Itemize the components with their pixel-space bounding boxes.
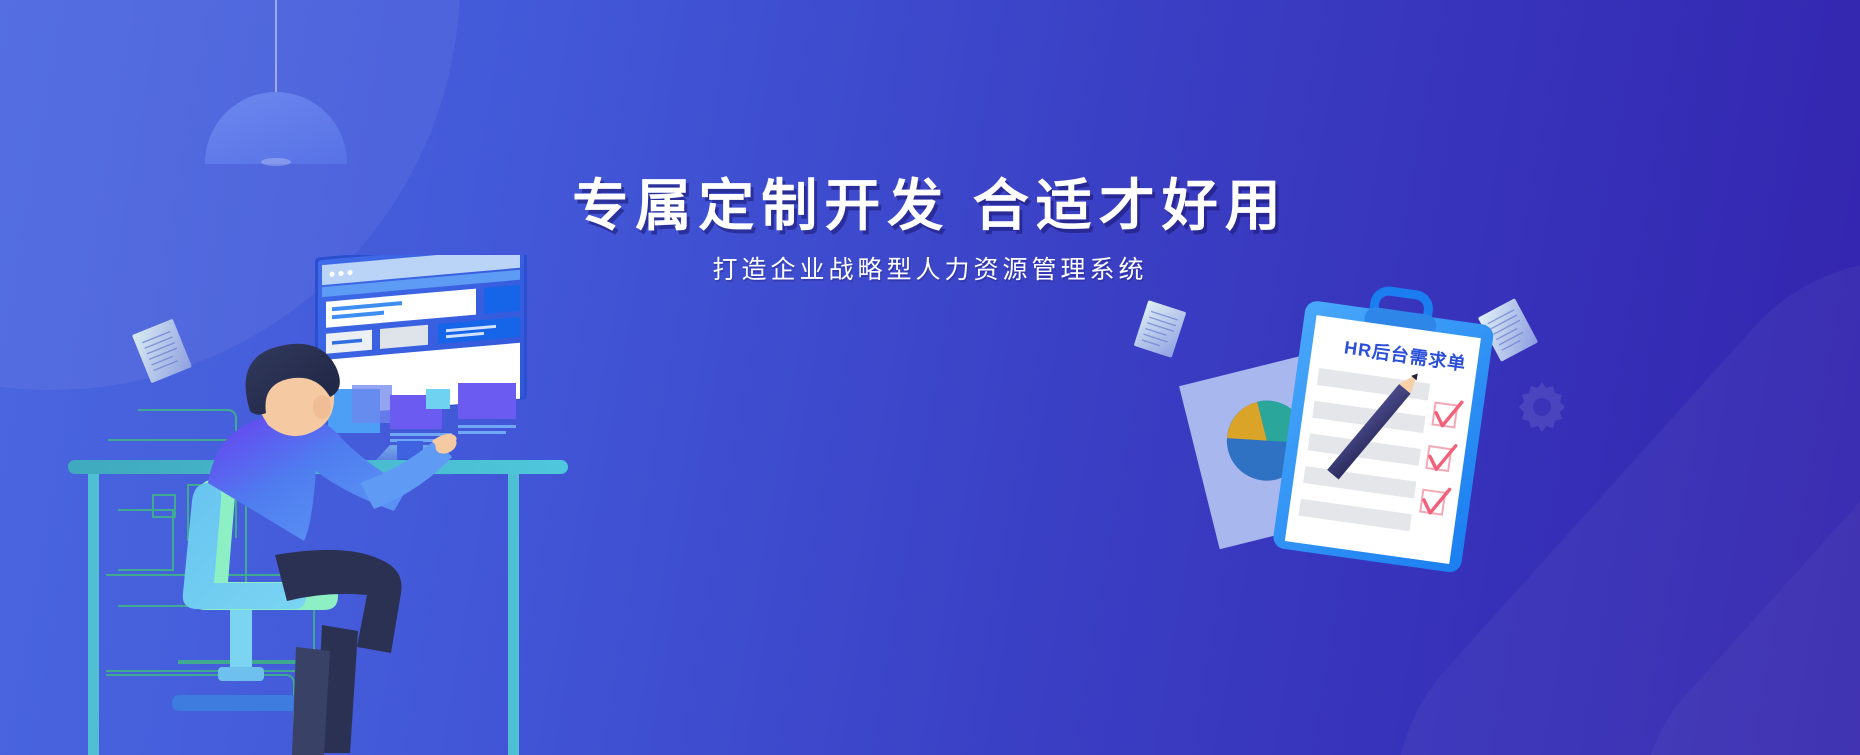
page-title: 专属定制开发 合适才好用 [0, 176, 1860, 236]
pendant-lamp [205, 0, 347, 160]
clipboard: HR后台需求单 [1272, 280, 1498, 574]
lamp-shade [205, 92, 347, 164]
hero-banner: 专属定制开发 合适才好用 打造企业战略型人力资源管理系统 [0, 0, 1860, 755]
headline-block: 专属定制开发 合适才好用 打造企业战略型人力资源管理系统 [0, 176, 1860, 286]
illustration-person-at-desk [60, 255, 580, 755]
lamp-cord [275, 0, 277, 96]
illustration-clipboard-checklist: HR后台需求单 [1160, 270, 1580, 590]
page-subtitle: 打造企业战略型人力资源管理系统 [0, 250, 1860, 286]
lamp-glow [261, 158, 291, 166]
